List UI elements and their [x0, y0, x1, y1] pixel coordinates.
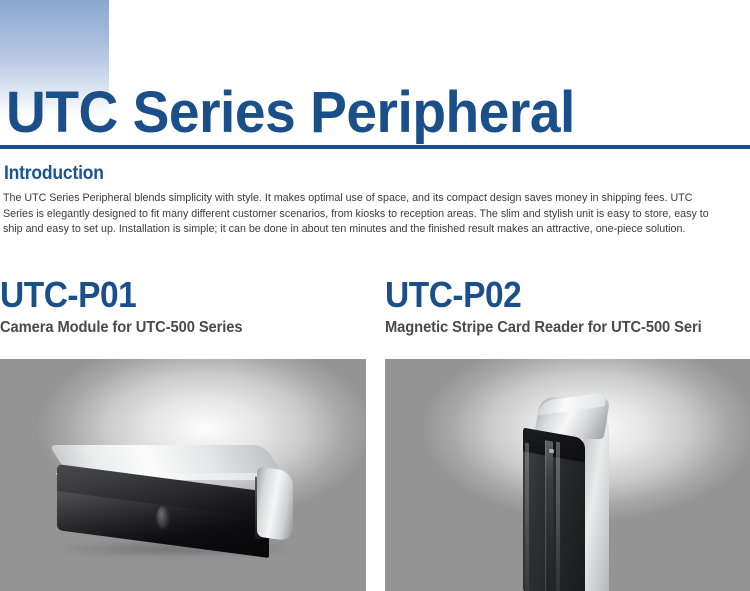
product-code-label: UTC-P02 [385, 276, 724, 314]
reader-front-module [523, 440, 585, 591]
product-code-label: UTC-P01 [0, 276, 340, 314]
product-photo-utc-p02 [385, 359, 750, 591]
page-title: UTC Series Peripheral [6, 82, 575, 144]
product-subtitle-label: Camera Module for UTC-500 Series [0, 319, 348, 337]
introduction-body-text: The UTC Series Peripheral blends simplic… [3, 191, 717, 238]
camera-lens-icon [157, 506, 168, 528]
introduction-heading: Introduction [4, 163, 104, 185]
product-heading-utc-p01: UTC-P01 Camera Module for UTC-500 Series [0, 276, 366, 337]
title-divider-rule [0, 145, 750, 149]
reader-right-rail [556, 442, 560, 591]
product-photo-utc-p01 [0, 359, 366, 591]
reader-indicator-icon [549, 449, 554, 454]
product-subtitle-label: Magnetic Stripe Card Reader for UTC-500 … [385, 319, 732, 337]
reader-left-rail [525, 443, 529, 591]
datasheet-page: UTC Series Peripheral Introduction The U… [0, 0, 750, 591]
product-heading-utc-p02: UTC-P02 Magnetic Stripe Card Reader for … [385, 276, 750, 337]
camera-right-end-cap [257, 466, 293, 541]
camera-module-illustration [52, 445, 302, 555]
reader-card-slot [545, 440, 553, 591]
card-reader-illustration [515, 397, 625, 591]
reader-side-panel [583, 425, 609, 591]
